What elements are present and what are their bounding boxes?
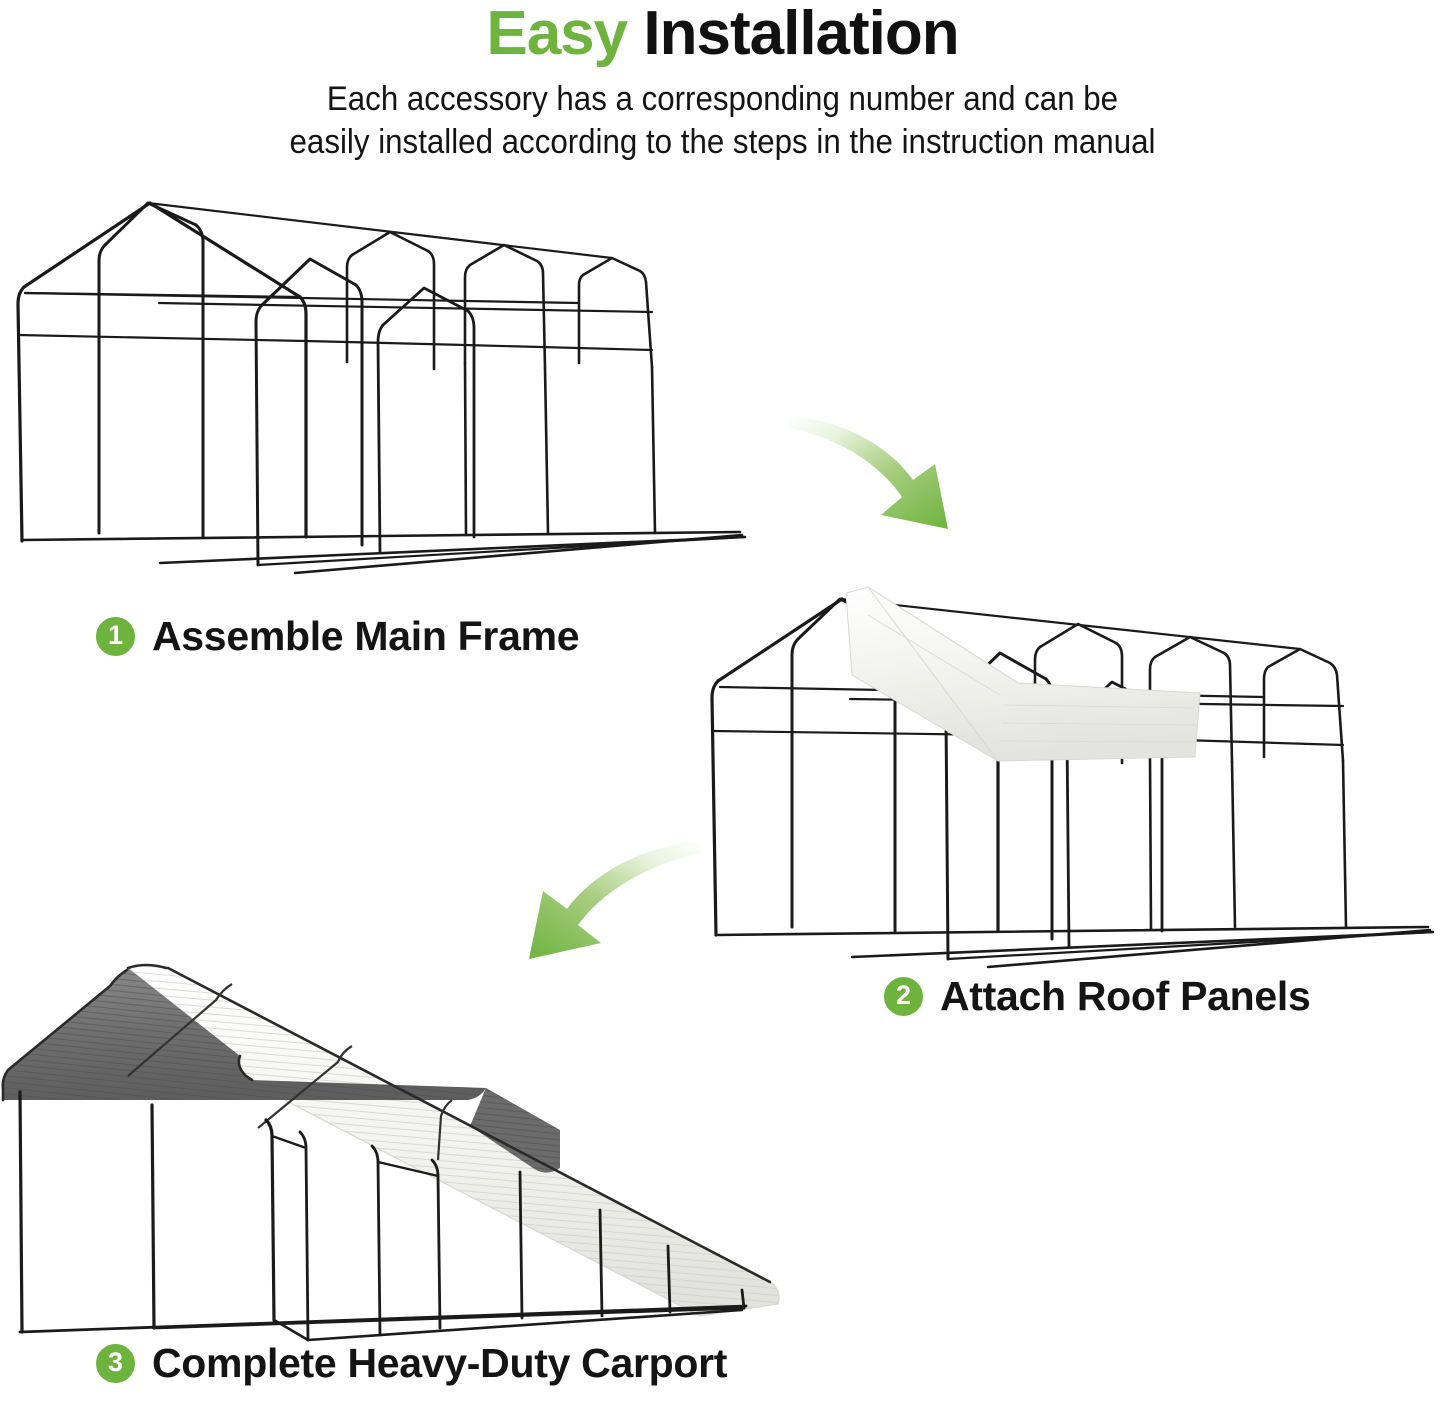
roof-white-slope <box>128 965 779 1316</box>
header: Easy Installation Each accessory has a c… <box>0 0 1445 164</box>
carport-bare-frame-svg <box>0 185 760 575</box>
step-3-label-text: Complete Heavy-Duty Carport <box>152 1340 727 1386</box>
arrow-step2-to-step3 <box>475 825 705 965</box>
curved-arrow-down-right-icon <box>785 398 1000 533</box>
step-1-label-text: Assemble Main Frame <box>152 613 579 659</box>
page-title: Easy Installation <box>0 0 1445 66</box>
step-3-number-badge: 3 <box>96 1344 135 1383</box>
step-1-illustration <box>0 185 760 575</box>
curved-arrow-down-left-icon <box>475 825 705 965</box>
step-2-number-badge: 2 <box>884 977 923 1016</box>
subtitle-line-2: easily installed according to the steps … <box>58 121 1387 164</box>
carport-frame-with-roof-panel-svg <box>700 575 1445 975</box>
step-3-label-row: 3 Complete Heavy-Duty Carport <box>96 1340 727 1386</box>
carport-completed-svg <box>0 960 790 1340</box>
step-3-illustration <box>0 960 790 1340</box>
step-2-label-row: 2 Attach Roof Panels <box>884 973 1311 1019</box>
step-2-label-text: Attach Roof Panels <box>940 973 1311 1019</box>
roof-panel-piece <box>846 587 1200 761</box>
title-accent-word: Easy <box>486 0 627 68</box>
step-1-number: 1 <box>108 622 123 649</box>
step-2-illustration <box>700 575 1445 975</box>
step-2-number: 2 <box>896 982 911 1009</box>
subtitle-line-1: Each accessory has a corresponding numbe… <box>58 78 1387 121</box>
infographic-canvas: Easy Installation Each accessory has a c… <box>0 0 1445 1411</box>
subtitle: Each accessory has a corresponding numbe… <box>58 78 1387 164</box>
step-1-number-badge: 1 <box>96 617 135 656</box>
arrow-step1-to-step2 <box>785 398 1000 533</box>
step-3-number: 3 <box>108 1349 123 1376</box>
title-plain-word: Installation <box>643 0 958 68</box>
step-1-label-row: 1 Assemble Main Frame <box>96 613 579 659</box>
